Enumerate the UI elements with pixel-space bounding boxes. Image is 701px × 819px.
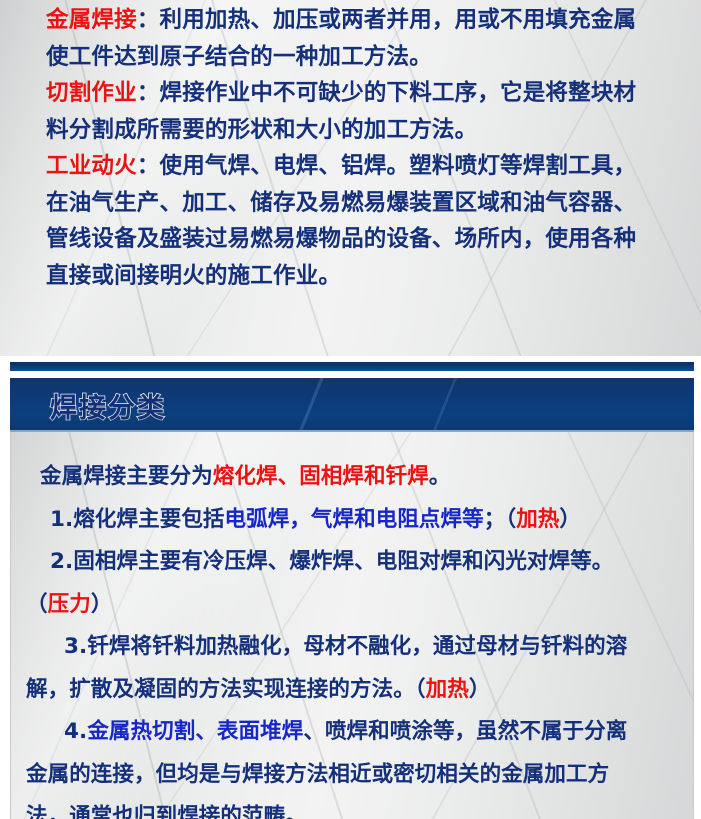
classification-line: （压力）	[26, 584, 678, 627]
classification-run: 3.钎焊将钎料加热融化，母材不融化，通过母材与钎料的溶	[64, 634, 627, 659]
classification-run: 熔化焊、固相焊和钎焊	[213, 464, 429, 489]
classification-run: ）	[91, 592, 113, 617]
classification-line: 4.金属热切割、表面堆焊、喷焊和喷涂等，虽然不属于分离	[26, 711, 678, 754]
top_block.flat_lines-run: 在油气生产、加工、储存及易燃易爆装置区域和油气容器、	[46, 190, 636, 216]
slide-root: 金属焊接：利用加热、加压或两者并用，用或不用填充金属使工件达到原子结合的一种加工…	[0, 0, 701, 819]
section-header-title: 焊接分类	[50, 386, 166, 425]
definition-line: 管线设备及盛装过易燃易爆物品的设备、场所内，使用各种	[46, 221, 662, 258]
definition-line: 在油气生产、加工、储存及易燃易爆装置区域和油气容器、	[46, 185, 662, 222]
classification-run: （	[26, 592, 48, 617]
classification-run: ）	[559, 507, 581, 532]
classification-run: ）	[469, 677, 491, 702]
top_block.flat_lines-run: ：利用加热、加压或两者并用，用或不用填充金属	[137, 7, 636, 33]
top_block.flat_lines-run: 料分割成所需要的形状和大小的加工方法。	[46, 117, 477, 143]
classification-run: 加热	[426, 677, 469, 702]
classification-run: 加热	[516, 507, 559, 532]
section-header-banner: 焊接分类	[10, 378, 694, 432]
definition-line: 料分割成所需要的形状和大小的加工方法。	[46, 112, 662, 149]
classification-line: 3.钎焊将钎料加热融化，母材不融化，通过母材与钎料的溶	[26, 626, 678, 669]
top_block.flat_lines-run: 直接或间接明火的施工作业。	[46, 263, 341, 289]
definition-line: 工业动火：使用气焊、电焊、铝焊。塑料喷灯等焊割工具，	[46, 148, 662, 185]
classification-run: 4.	[64, 719, 87, 744]
classification-run: 。	[429, 464, 451, 489]
classification-run: ；（	[484, 507, 516, 532]
top_block.flat_lines-run: 管线设备及盛装过易燃易爆物品的设备、场所内，使用各种	[46, 226, 636, 252]
classification-run: 金属的连接，但均是与焊接方法相近或密切相关的金属加工方	[26, 762, 609, 787]
classification-run: 法，通常也归到焊接的范畴。	[26, 804, 307, 819]
definition-line: 切割作业：焊接作业中不可缺少的下料工序，它是将整块材	[46, 75, 662, 112]
classification-run: 金属热切割、表面堆焊	[87, 719, 303, 744]
classification-line: 金属的连接，但均是与焊接方法相近或密切相关的金属加工方	[26, 754, 678, 797]
definition-line: 金属焊接：利用加热、加压或两者并用，用或不用填充金属	[46, 2, 662, 39]
section-divider-bar	[10, 362, 694, 371]
top_block.flat_lines-run: 使工件达到原子结合的一种加工方法。	[46, 44, 432, 70]
classification-run: 1.熔化焊主要包括	[50, 507, 225, 532]
classification-run: 金属焊接主要分为	[40, 464, 213, 489]
classification-line: 法，通常也归到焊接的范畴。	[26, 796, 678, 819]
definition-line: 使工件达到原子结合的一种加工方法。	[46, 39, 662, 76]
definition-line: 直接或间接明火的施工作业。	[46, 258, 662, 295]
classification-run: 、喷焊和喷涂等，虽然不属于分离	[303, 719, 627, 744]
welding-classification-text-block: 金属焊接主要分为熔化焊、固相焊和钎焊。1.熔化焊主要包括电弧焊，气焊和电阻点焊等…	[26, 456, 678, 819]
classification-line: 解，扩散及凝固的方法实现连接的方法。（加热）	[26, 669, 678, 712]
definitions-text-block: 金属焊接：利用加热、加压或两者并用，用或不用填充金属使工件达到原子结合的一种加工…	[46, 2, 662, 294]
classification-line: 2.固相焊主要有冷压焊、爆炸焊、电阻对焊和闪光对焊等。	[26, 541, 678, 584]
top_block.flat_lines-run: 工业动火	[46, 153, 137, 179]
classification-run: 2.固相焊主要有冷压焊、爆炸焊、电阻对焊和闪光对焊等。	[50, 549, 613, 574]
top_block.flat_lines-run: ：使用气焊、电焊、铝焊。塑料喷灯等焊割工具，	[137, 153, 636, 179]
top_block.flat_lines-run: ：焊接作业中不可缺少的下料工序，它是将整块材	[137, 80, 636, 106]
classification-run: 压力	[48, 592, 91, 617]
classification-run: 电弧焊，气焊和电阻点焊等	[225, 507, 484, 532]
top_block.flat_lines-run: 金属焊接	[46, 7, 137, 33]
top_block.flat_lines-run: 切割作业	[46, 80, 137, 106]
classification-line: 金属焊接主要分为熔化焊、固相焊和钎焊。	[26, 456, 678, 499]
classification-line: 1.熔化焊主要包括电弧焊，气焊和电阻点焊等；（加热）	[26, 499, 678, 542]
classification-run: 解，扩散及凝固的方法实现连接的方法。（	[26, 677, 426, 702]
